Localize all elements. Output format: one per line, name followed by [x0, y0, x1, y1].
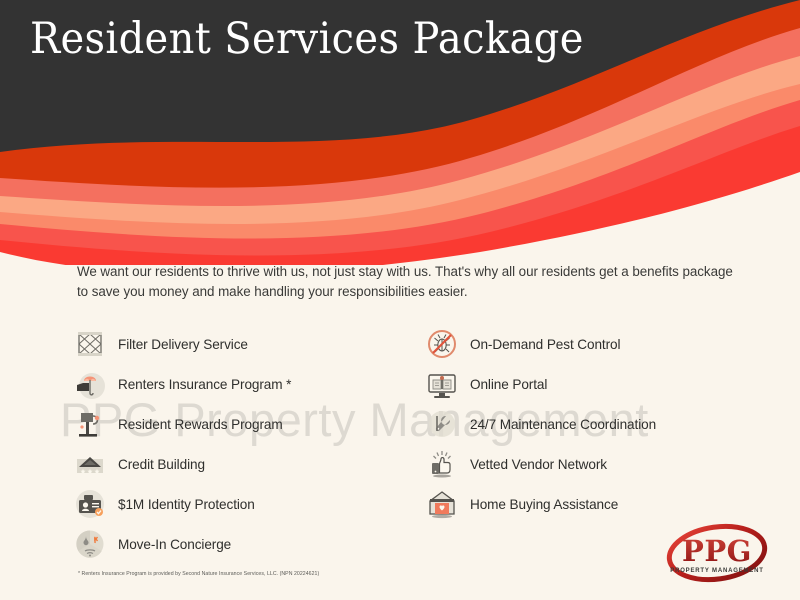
benefit-item: Filter Delivery Service	[72, 324, 412, 364]
home-heart-icon	[424, 486, 460, 522]
benefit-item: Online Portal	[424, 364, 774, 404]
footnote-text: * Renters Insurance Program is provided …	[78, 571, 319, 577]
credit-stars-icon	[72, 446, 108, 482]
benefit-label: $1M Identity Protection	[118, 497, 255, 512]
benefits-right-column: On-Demand Pest Control Online	[424, 324, 774, 524]
benefit-label: Vetted Vendor Network	[470, 457, 607, 472]
benefit-item: Renters Insurance Program *	[72, 364, 412, 404]
ppg-logo: PPG PROPERTY MANAGEMENT	[655, 518, 780, 590]
identity-badge-icon	[72, 486, 108, 522]
benefit-item: Resident Rewards Program	[72, 404, 412, 444]
maintenance-wrench-icon	[424, 406, 460, 442]
page-title: Resident Services Package	[30, 14, 584, 64]
header-banner: Resident Services Package	[0, 0, 800, 265]
benefits-left-column: Filter Delivery Service Renters Insuranc…	[72, 324, 412, 564]
umbrella-house-icon	[72, 366, 108, 402]
thumbs-up-icon	[424, 446, 460, 482]
benefit-item: 24/7 Maintenance Coordination	[424, 404, 774, 444]
benefit-label: 24/7 Maintenance Coordination	[470, 417, 656, 432]
benefit-item: Vetted Vendor Network	[424, 444, 774, 484]
benefit-label: Renters Insurance Program *	[118, 377, 291, 392]
benefit-label: Home Buying Assistance	[470, 497, 618, 512]
benefit-item: Credit Building	[72, 444, 412, 484]
logo-mark: PPG	[682, 534, 752, 568]
benefit-label: On-Demand Pest Control	[470, 337, 620, 352]
benefit-label: Resident Rewards Program	[118, 417, 283, 432]
monitor-portal-icon	[424, 366, 460, 402]
rewards-trophy-icon	[72, 406, 108, 442]
air-filter-icon	[72, 326, 108, 362]
logo-tagline: PROPERTY MANAGEMENT	[670, 568, 763, 574]
benefit-label: Online Portal	[470, 377, 547, 392]
intro-paragraph: We want our residents to thrive with us,…	[77, 262, 737, 302]
benefit-label: Filter Delivery Service	[118, 337, 248, 352]
resident-services-flyer: Resident Services Package PPG Property M…	[0, 0, 800, 600]
benefit-item: $1M Identity Protection	[72, 484, 412, 524]
benefit-item: Move-In Concierge	[72, 524, 412, 564]
no-pest-icon	[424, 326, 460, 362]
utilities-wheel-icon	[72, 526, 108, 562]
benefit-item: On-Demand Pest Control	[424, 324, 774, 364]
benefit-label: Credit Building	[118, 457, 205, 472]
benefit-label: Move-In Concierge	[118, 537, 231, 552]
